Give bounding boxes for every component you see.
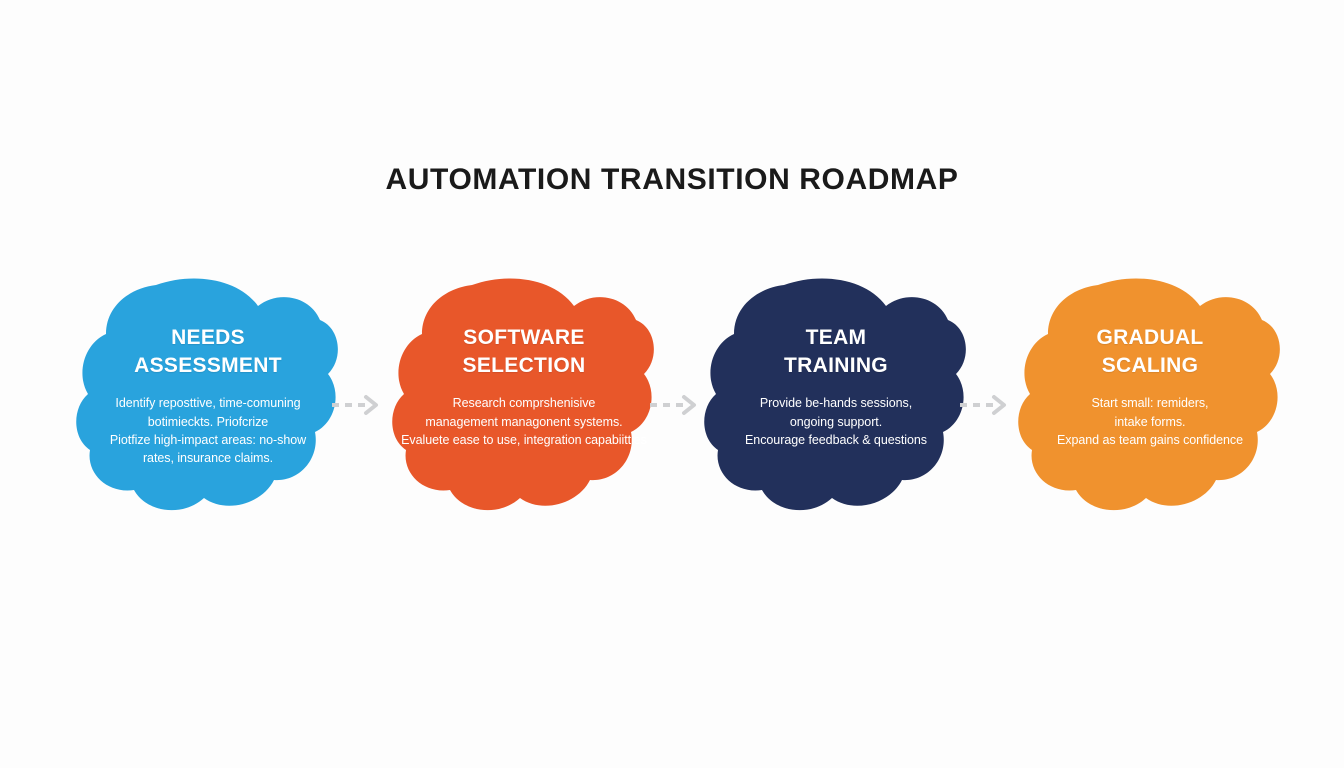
connector-arrow-3 bbox=[958, 394, 1010, 416]
stage-needs-assessment[interactable]: NEEDS ASSESSMENT Identify reposttive, ti… bbox=[72, 272, 344, 522]
dashed-arrow-right-icon bbox=[330, 394, 382, 416]
page-title: AUTOMATION TRANSITION ROADMAP bbox=[0, 163, 1344, 196]
connector-arrow-2 bbox=[648, 394, 700, 416]
roadmap-canvas: AUTOMATION TRANSITION ROADMAP NEEDS ASSE… bbox=[0, 0, 1344, 768]
blob-path-1 bbox=[76, 278, 338, 510]
roadmap-flow: NEEDS ASSESSMENT Identify reposttive, ti… bbox=[0, 272, 1344, 522]
dashed-arrow-right-icon bbox=[648, 394, 700, 416]
blob-path-4 bbox=[1018, 278, 1280, 510]
blob-shape-3 bbox=[700, 272, 972, 522]
blob-shape-4 bbox=[1014, 272, 1286, 522]
blob-shape-1 bbox=[72, 272, 344, 522]
stage-gradual-scaling[interactable]: GRADUAL SCALING Start small: remiders, i… bbox=[1014, 272, 1286, 522]
stage-team-training[interactable]: TEAM TRAINING Provide be-hands sessions,… bbox=[700, 272, 972, 522]
blob-path-3 bbox=[704, 278, 966, 510]
connector-arrow-1 bbox=[330, 394, 382, 416]
blob-path-2 bbox=[392, 278, 654, 510]
stage-software-selection[interactable]: SOFTWARE SELECTION Research comprshenisi… bbox=[388, 272, 660, 522]
blob-shape-2 bbox=[388, 272, 660, 522]
dashed-arrow-right-icon bbox=[958, 394, 1010, 416]
